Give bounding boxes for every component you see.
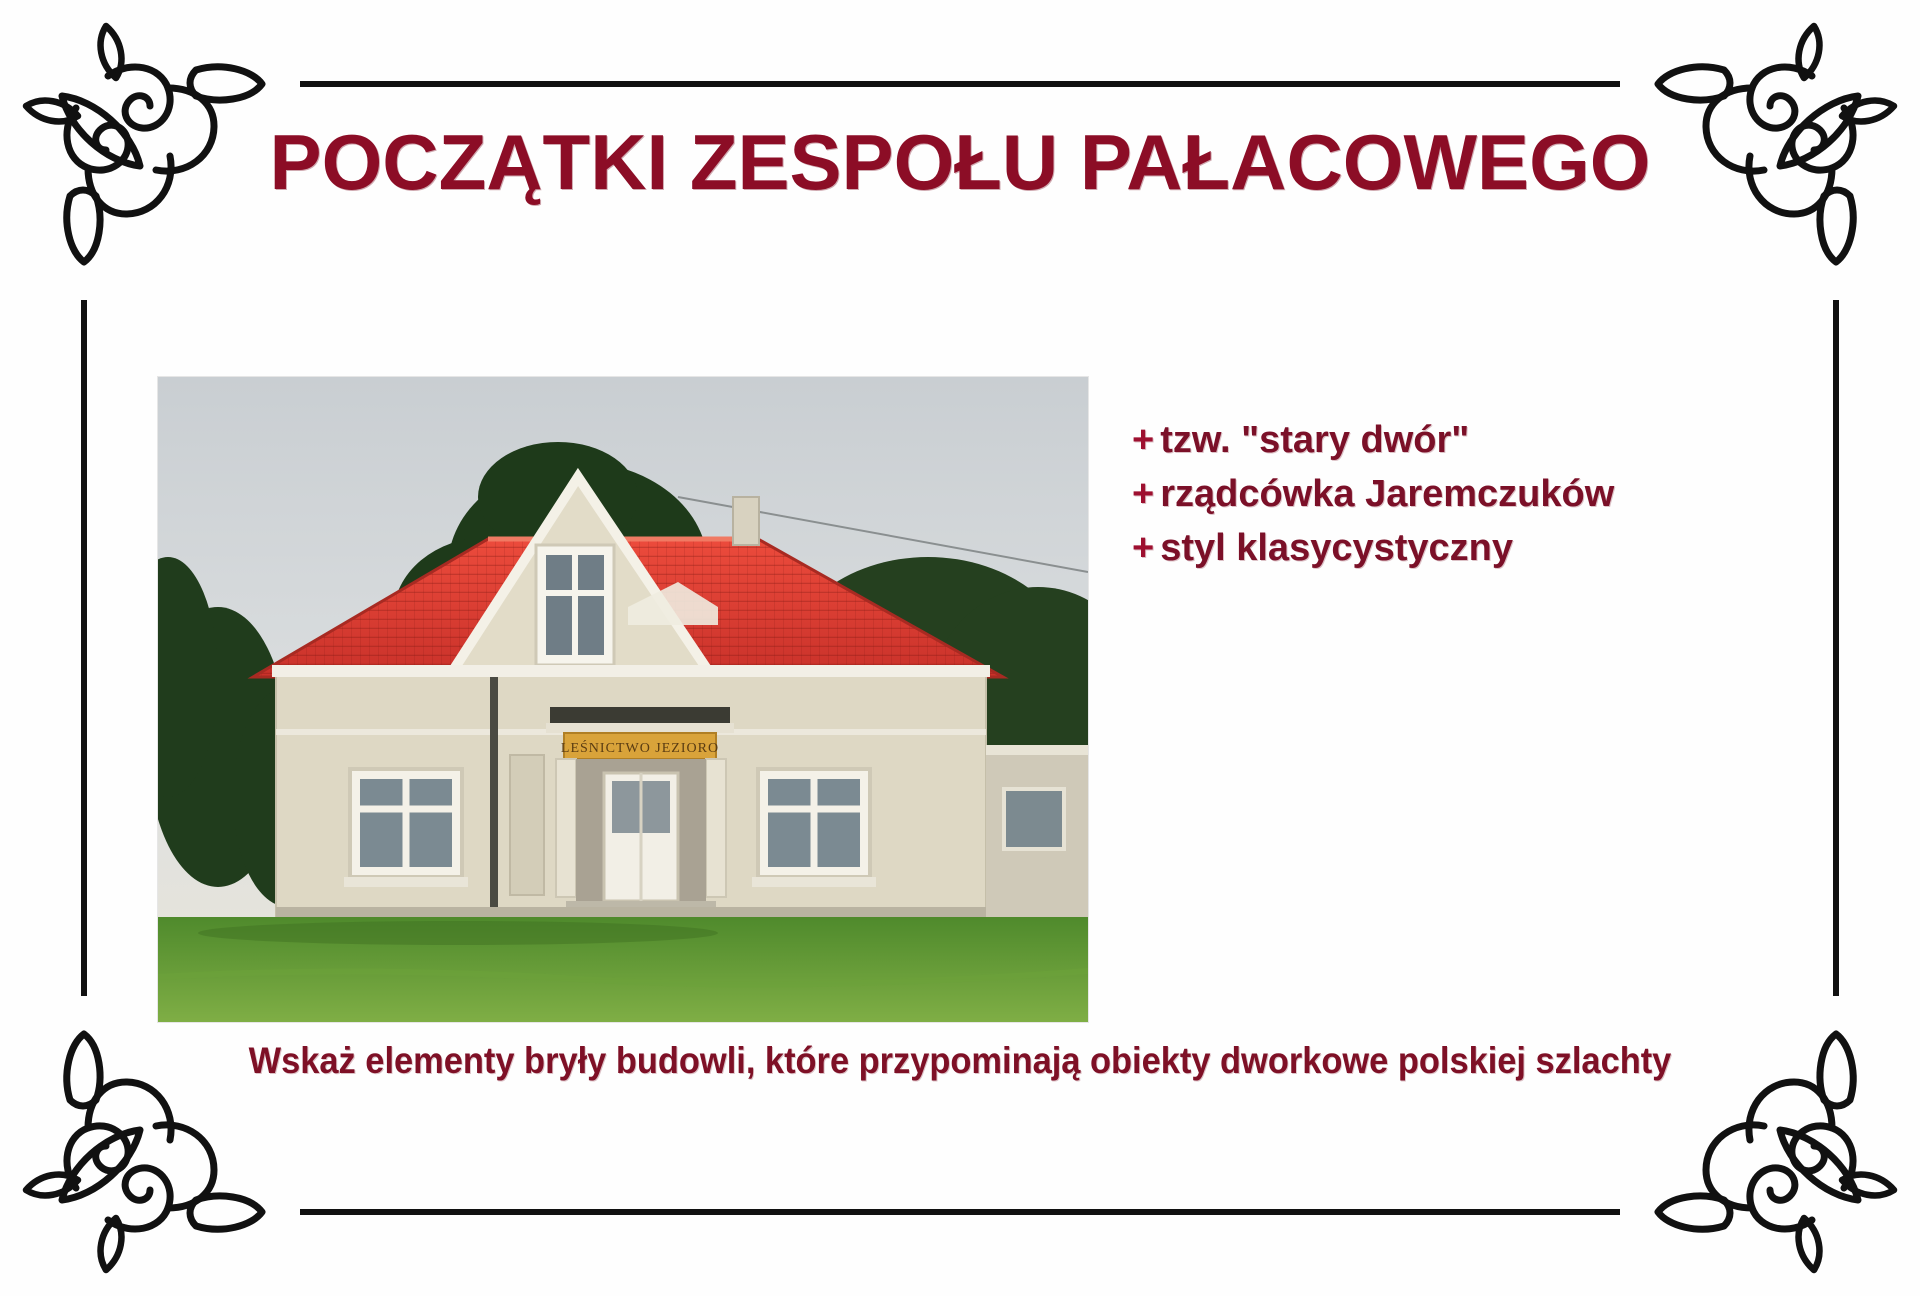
manor-house-photo: LEŚNICTWO JEZIORO [158, 377, 1088, 1022]
bullet-list: +tzw. "stary dwór" +rządcówka Jaremczukó… [1132, 414, 1832, 576]
page-title: POCZĄTKI ZESPOŁU PAŁACOWEGO [0, 123, 1920, 203]
downpipe [490, 677, 498, 907]
slide-canvas: POCZĄTKI ZESPOŁU PAŁACOWEGO [0, 0, 1920, 1296]
bullet-item-3: +styl klasycystyczny [1132, 522, 1832, 576]
plus-icon: + [1132, 527, 1154, 569]
bullet-item-3-label: styl klasycystyczny [1160, 527, 1513, 569]
task-caption: Wskaż elementy bryły budowli, które przy… [67, 1040, 1853, 1082]
bullet-item-2: +rządcówka Jaremczuków [1132, 468, 1832, 522]
plus-icon: + [1132, 473, 1154, 515]
plus-icon: + [1132, 419, 1154, 461]
manor-house-illustration: LEŚNICTWO JEZIORO [158, 377, 1088, 1022]
window-right [752, 769, 876, 887]
bullet-item-2-label: rządcówka Jaremczuków [1160, 473, 1614, 515]
portico-column-right [706, 759, 726, 897]
cornice [272, 665, 990, 677]
bullet-item-1: +tzw. "stary dwór" [1132, 414, 1832, 468]
annex-window [1004, 789, 1064, 849]
portico: LEŚNICTWO JEZIORO [546, 707, 736, 937]
portico-column-left [556, 759, 576, 897]
wall-panel [510, 755, 544, 895]
window-left [344, 769, 468, 887]
bullet-item-1-label: tzw. "stary dwór" [1160, 419, 1469, 461]
building-sign-text: LEŚNICTWO JEZIORO [561, 739, 719, 756]
chimney [733, 497, 759, 545]
